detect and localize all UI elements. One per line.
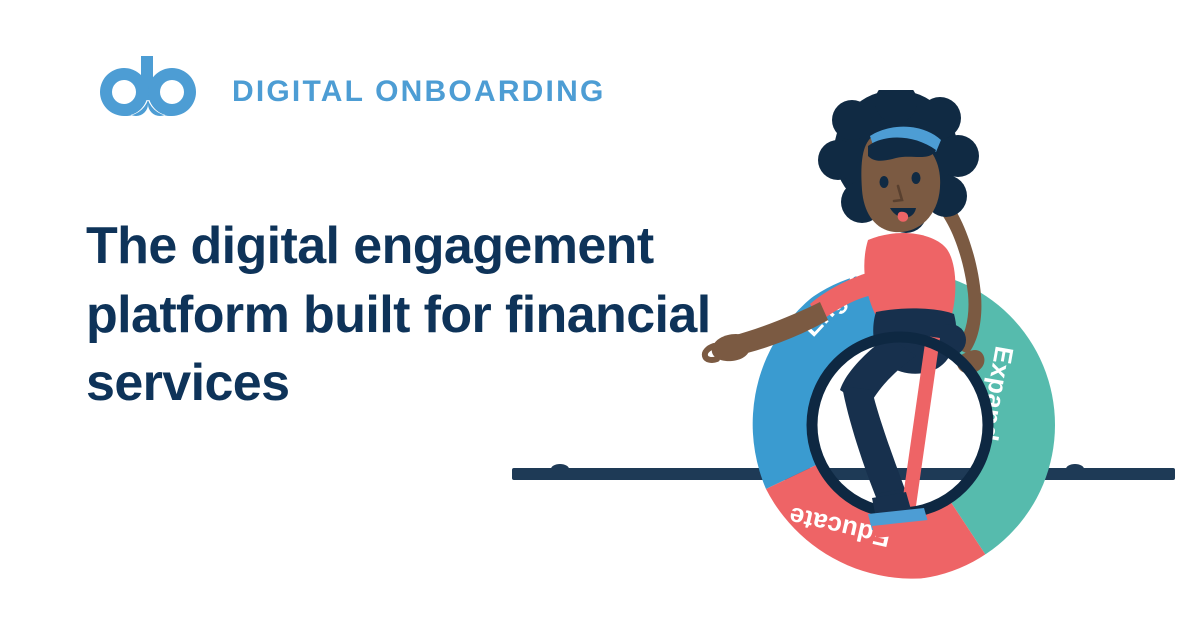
shirt <box>864 233 955 316</box>
marketing-banner: DIGITAL ONBOARDING The digital engagemen… <box>0 0 1200 630</box>
hero-illustration: Engage Expand Educate <box>700 90 1100 630</box>
brand-logo-lockup[interactable]: DIGITAL ONBOARDING <box>88 54 605 130</box>
page-headline: The digital engagement platform built fo… <box>86 212 766 418</box>
do-monogram-icon <box>88 54 210 130</box>
left-eye <box>880 176 889 188</box>
brand-wordmark: DIGITAL ONBOARDING <box>232 77 605 107</box>
right-eye <box>912 172 921 184</box>
unicycle-donut-illustration: Engage Expand Educate <box>700 90 1100 630</box>
